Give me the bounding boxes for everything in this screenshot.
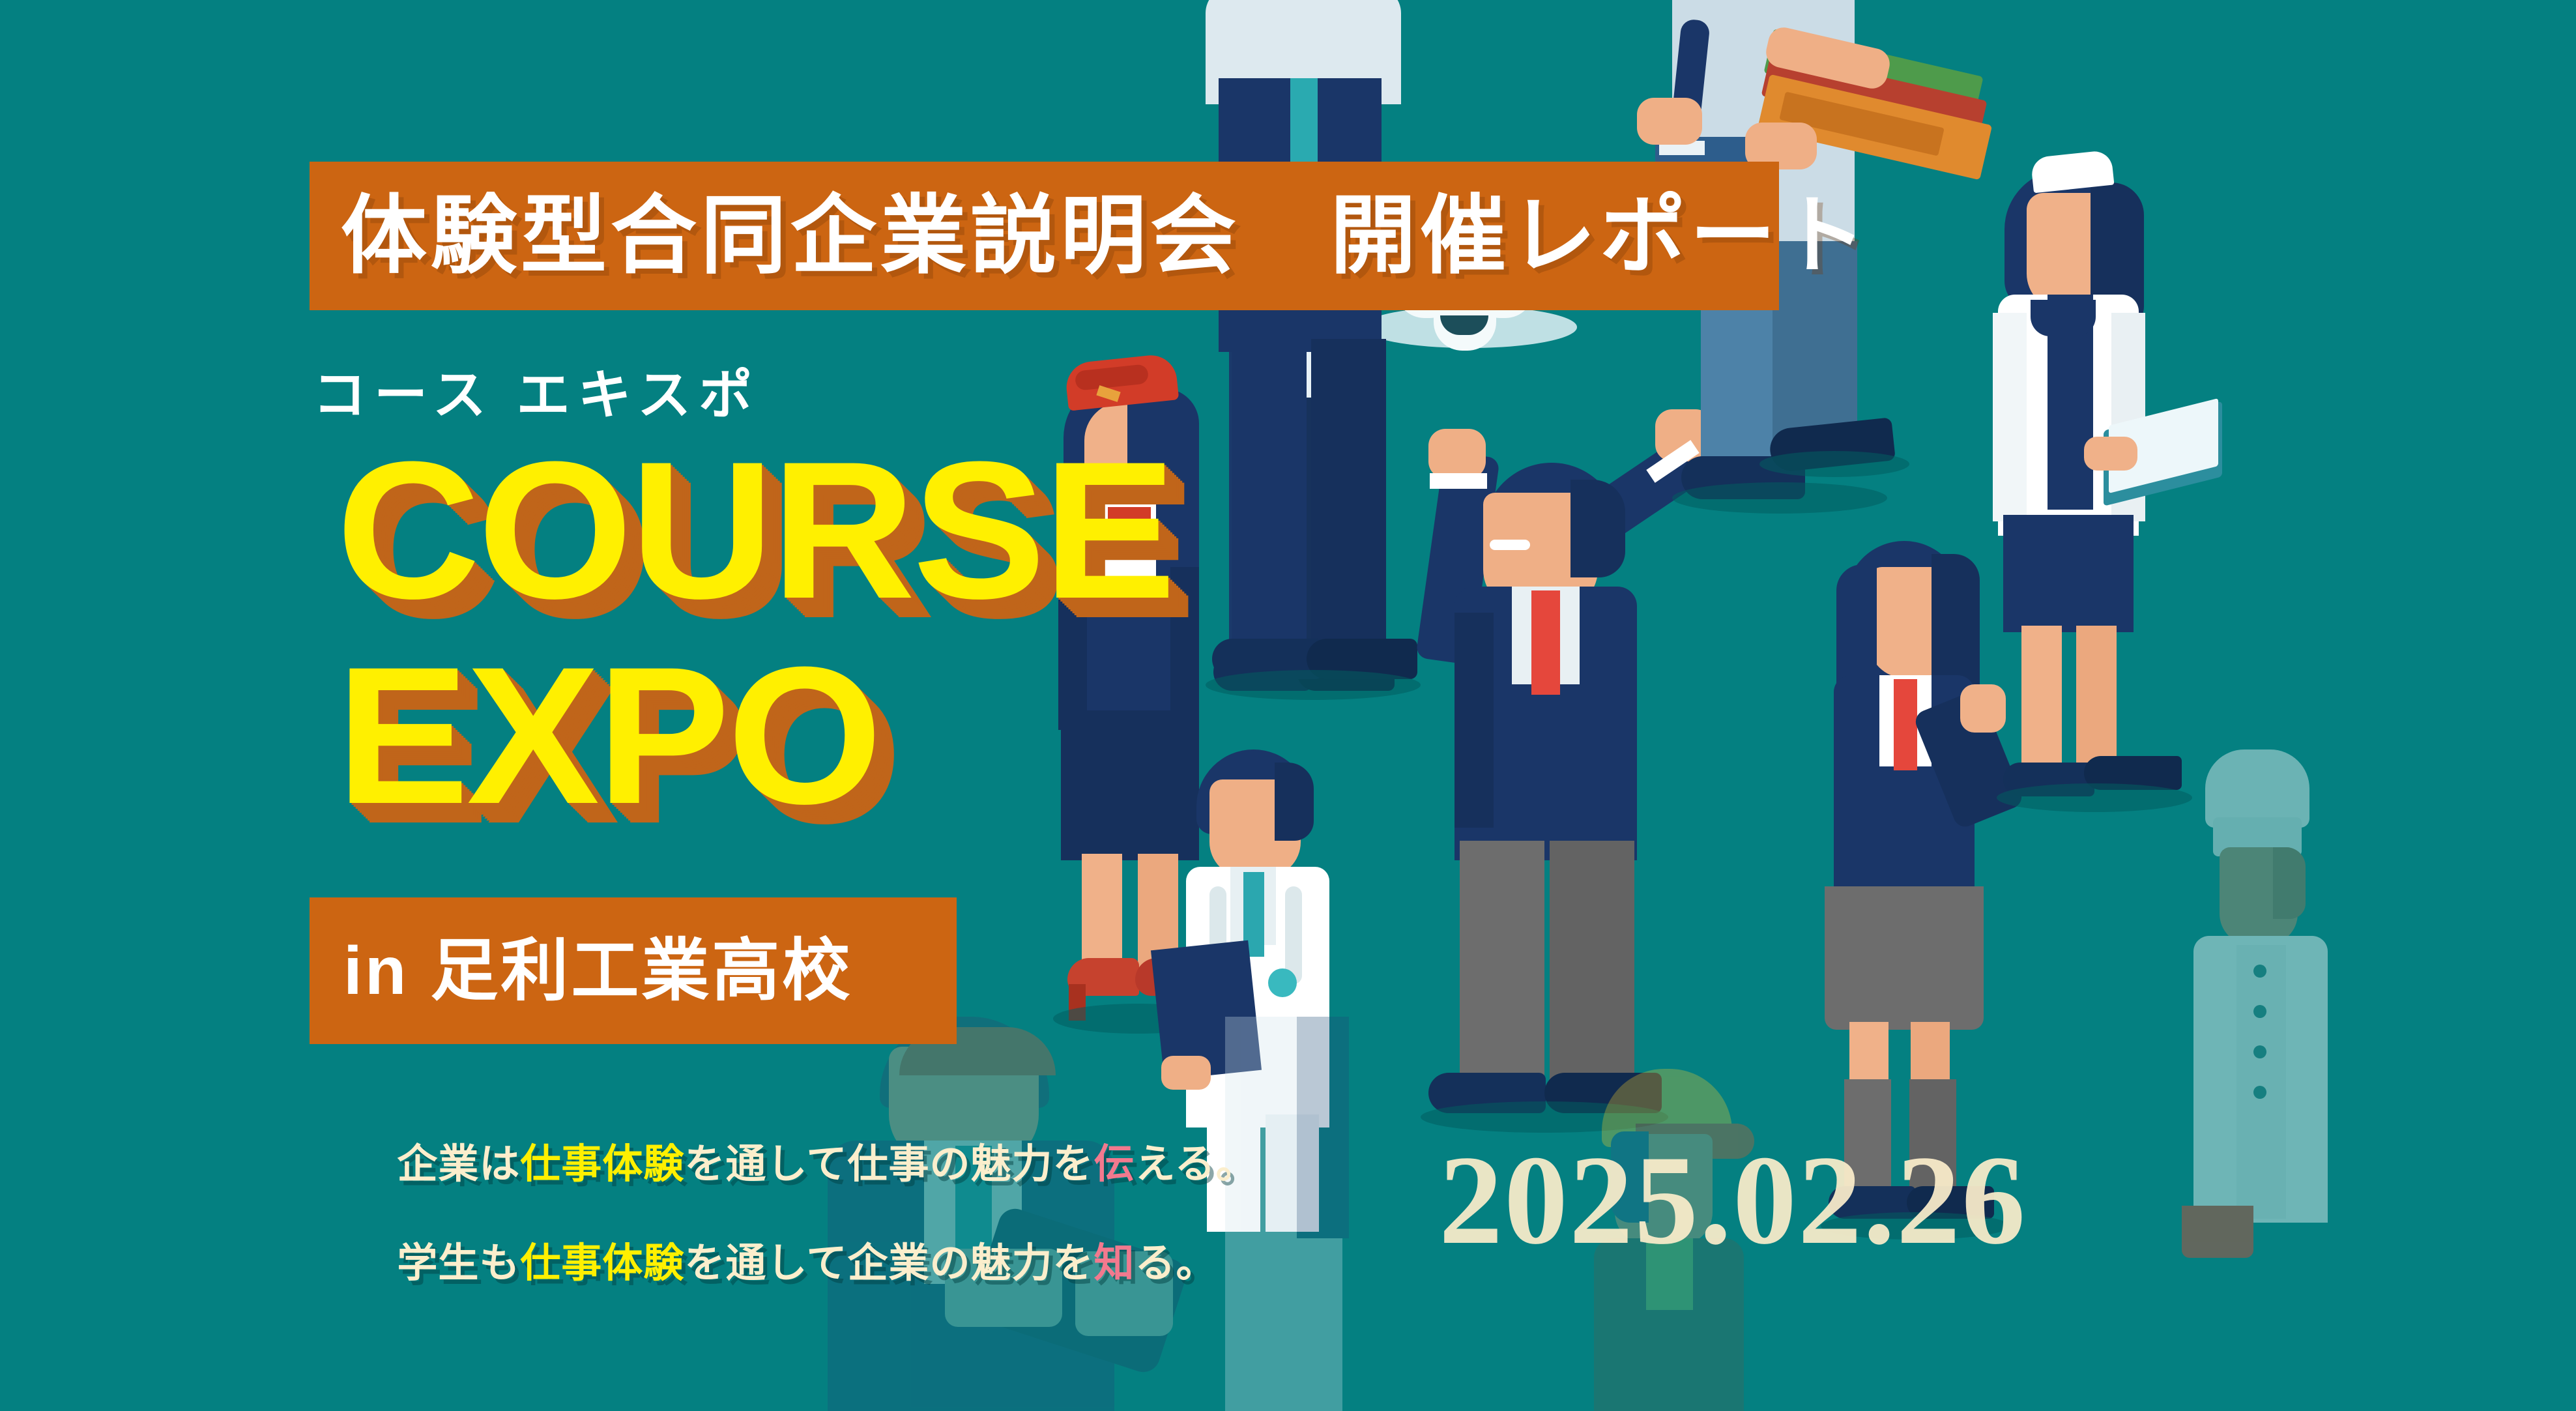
tagline-2-seg-2: を通して企業の魅力を: [684, 1241, 1093, 1286]
tagline-2-seg-3: 知: [1094, 1241, 1135, 1286]
tagline-2-seg-4: る。: [1135, 1241, 1217, 1286]
tagline-2-seg-0: 学生も: [397, 1241, 520, 1286]
tagline-1-seg-0: 企業は: [397, 1142, 520, 1187]
venue-banner-label: in 足利工業高校: [343, 937, 852, 1005]
tagline-1-seg-4: える。: [1135, 1142, 1257, 1187]
poster-canvas: 体験型合同企業説明会 開催レポート コース エキスポ COURSE EXPO i…: [0, 0, 2576, 1411]
venue-banner: in 足利工業高校: [310, 897, 957, 1044]
tagline-1-seg-1: 仕事体験: [520, 1142, 684, 1187]
logo-line-expo: EXPO: [336, 655, 880, 815]
kana-subtitle: コース エキスポ: [313, 369, 760, 422]
tagline-2-seg-1: 仕事体験: [520, 1241, 684, 1286]
logo-line-course: COURSE: [336, 450, 1174, 610]
tagline-student: 学生も仕事体験を通して企業の魅力を知る。: [326, 1203, 1217, 1324]
text-layer: 体験型合同企業説明会 開催レポート コース エキスポ COURSE EXPO i…: [0, 0, 2576, 1411]
tagline-1-seg-3: 伝: [1094, 1142, 1135, 1187]
title-banner-label: 体験型合同企業説明会 開催レポート: [341, 193, 1870, 279]
title-banner: 体験型合同企業説明会 開催レポート: [310, 162, 1779, 310]
event-date: 2025.02.26: [1439, 1137, 2027, 1264]
tagline-1-seg-2: を通して仕事の魅力を: [684, 1142, 1093, 1187]
